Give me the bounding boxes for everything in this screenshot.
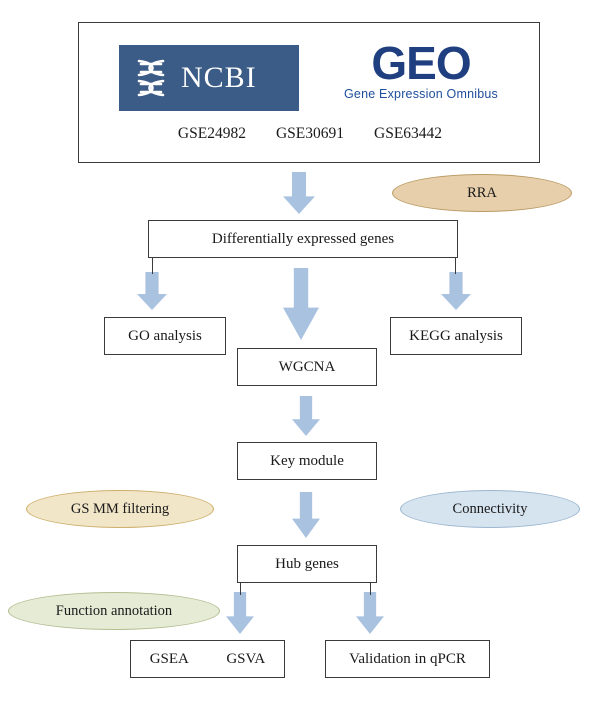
arrow-deg-to-go [137,272,167,310]
geo-wordmark: GEO [371,37,470,89]
arrow-deg-to-wgcna [283,268,319,340]
node-validation-qpcr: Validation in qPCR [325,640,490,678]
node-gsea-gsva: GSEA GSVA [130,640,285,678]
data-source-box: NCBI GEO Gene Expression Omnibus GSE2498… [78,22,540,163]
connector-line [455,258,456,274]
dna-helix-icon [125,52,177,104]
node-differentially-expressed-genes: Differentially expressed genes [148,220,458,258]
node-hub-genes: Hub genes [237,545,377,583]
dataset-accession: GSE24982 [178,125,246,143]
node-go-analysis: GO analysis [104,317,226,355]
arrow-hub-genes-to-gsea [226,592,254,634]
connector-line [152,258,153,274]
logos-row: NCBI GEO Gene Expression Omnibus [79,23,541,123]
connector-line [240,583,241,595]
connector-line [370,583,371,595]
dataset-accession: GSE63442 [374,125,442,143]
annotation-gs-mm-filtering: GS MM filtering [26,490,214,528]
arrow-source-to-deg [283,172,315,214]
node-gsva-label: GSVA [224,651,267,668]
node-wgcna: WGCNA [237,348,377,386]
annotation-rra: RRA [392,174,572,212]
annotation-connectivity: Connectivity [400,490,580,528]
geo-logo: GEO Gene Expression Omnibus [327,37,515,115]
arrow-key-module-to-hub-genes [292,492,320,538]
dataset-accessions: GSE24982 GSE30691 GSE63442 [79,125,541,143]
arrow-deg-to-kegg [441,272,471,310]
dataset-accession: GSE30691 [276,125,344,143]
ncbi-wordmark: NCBI [181,61,257,95]
arrow-wgcna-to-key-module [292,396,320,436]
annotation-function-annotation: Function annotation [8,592,220,630]
node-key-module: Key module [237,442,377,480]
node-kegg-analysis: KEGG analysis [390,317,522,355]
flowchart-canvas: NCBI GEO Gene Expression Omnibus GSE2498… [0,0,600,701]
geo-subtitle: Gene Expression Omnibus [327,87,515,101]
arrow-hub-genes-to-validation [356,592,384,634]
ncbi-logo: NCBI [119,45,299,111]
node-gsea-label: GSEA [148,651,191,668]
